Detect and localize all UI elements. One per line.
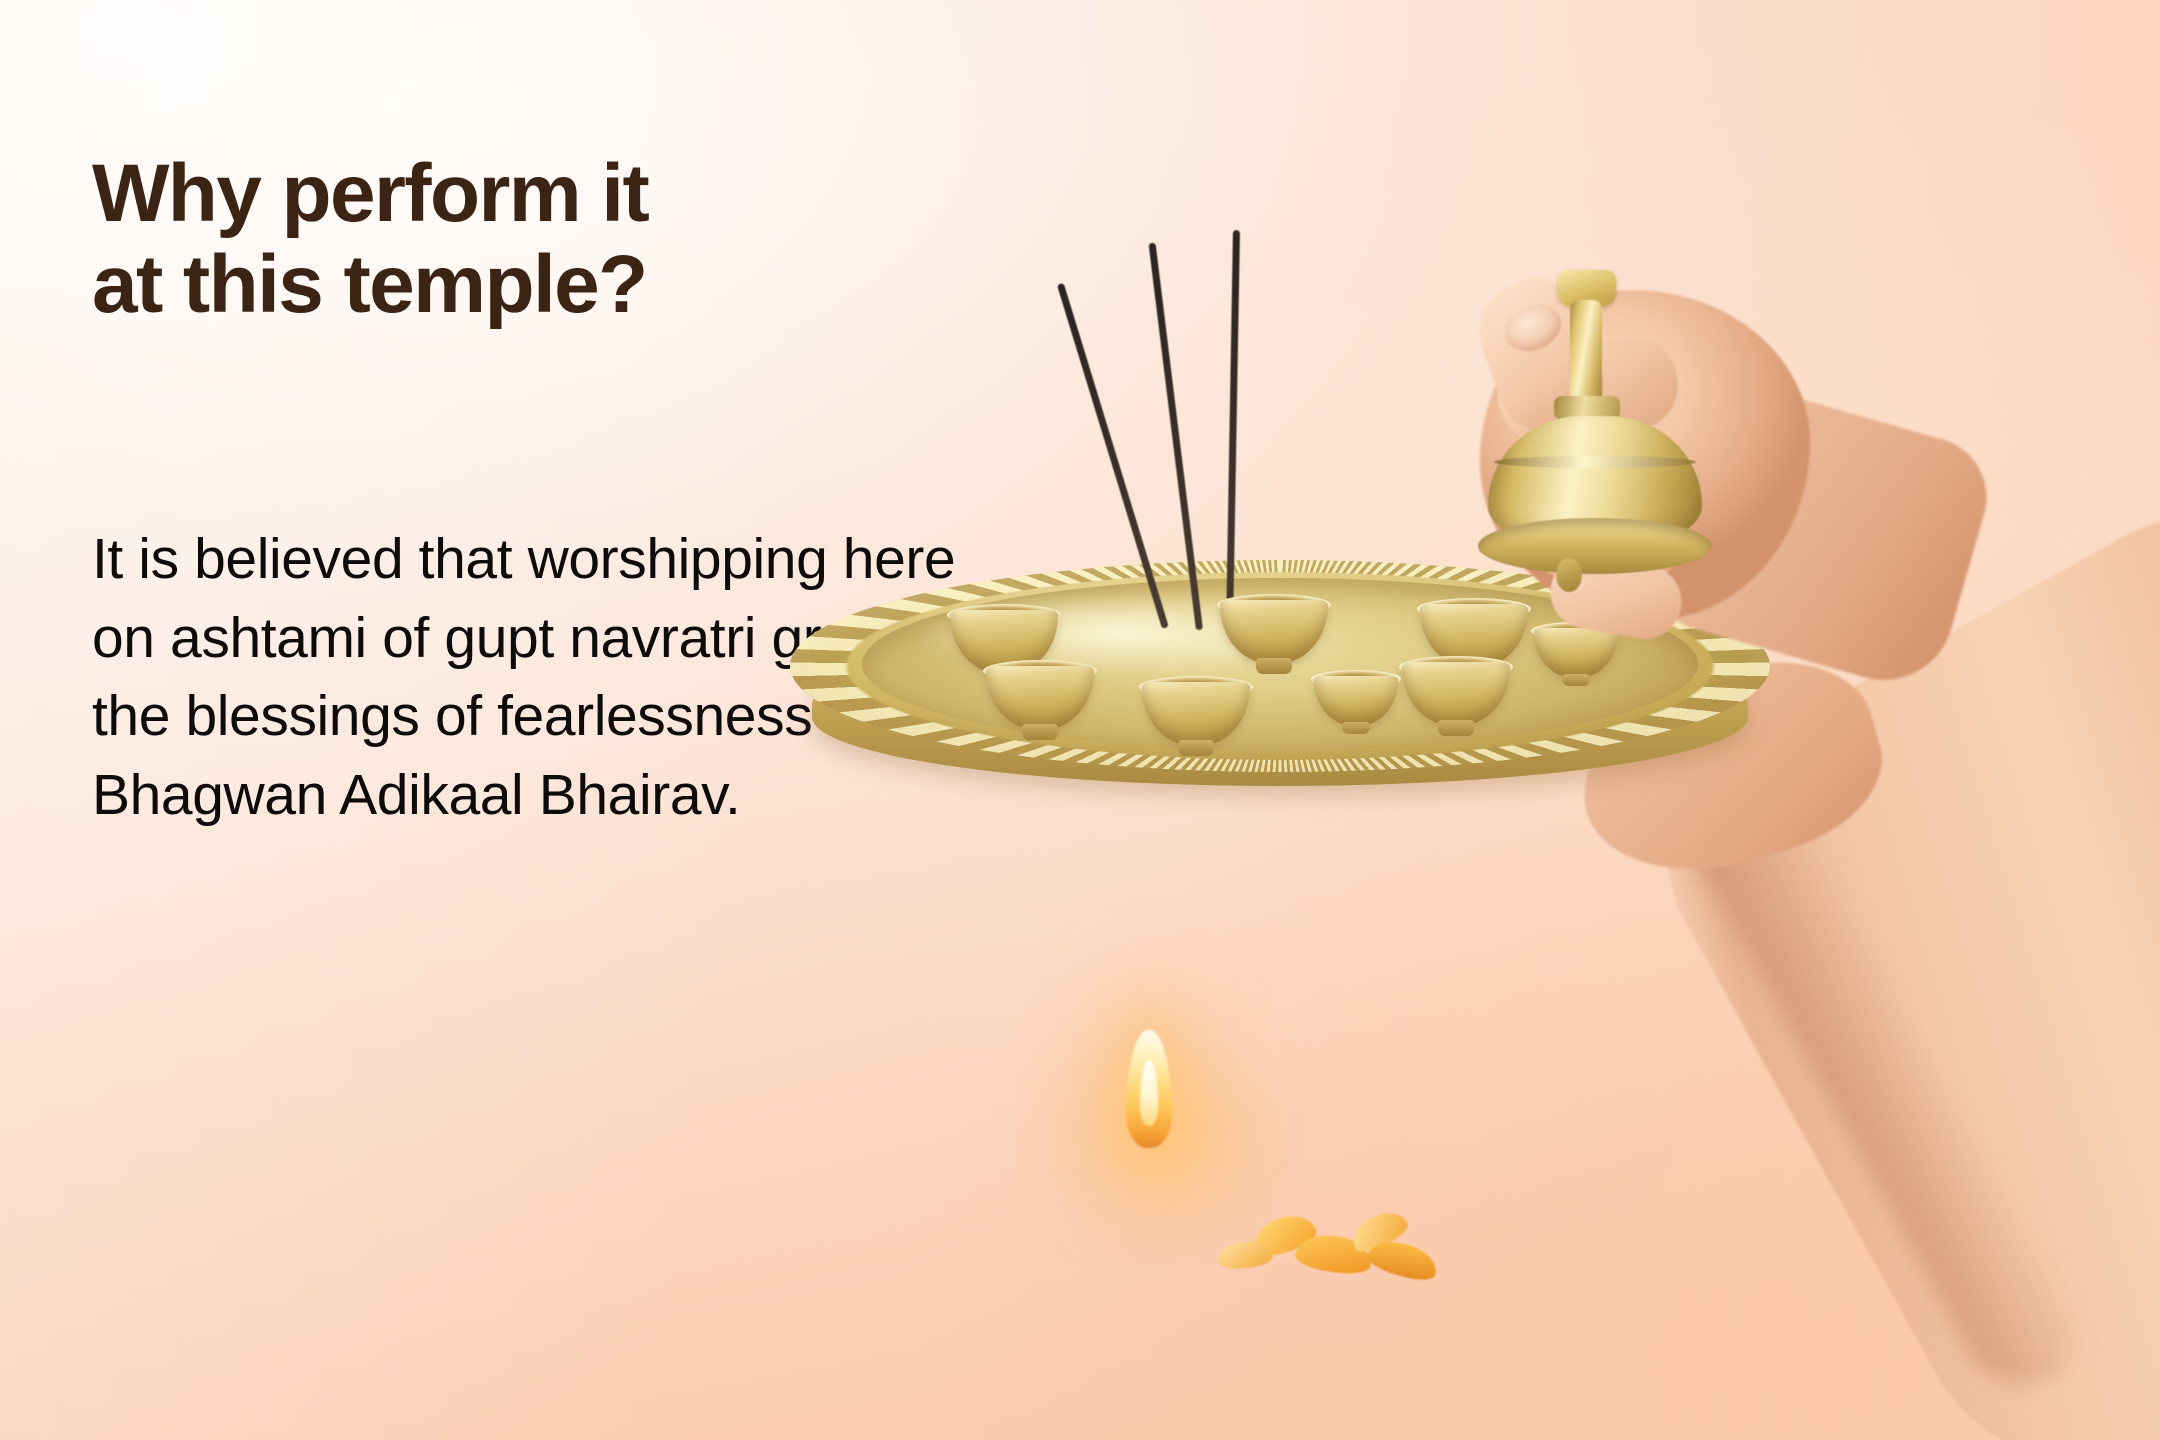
brass-diya bbox=[1142, 668, 1250, 754]
puja-photo bbox=[1020, 0, 2160, 1440]
page-title: Why perform it at this temple? bbox=[92, 148, 992, 330]
bell-clapper bbox=[1556, 558, 1582, 592]
hand-holding-bell bbox=[1320, 260, 1940, 820]
slide-canvas: Why perform it at this temple? It is bel… bbox=[0, 0, 2160, 1440]
marigold-petals bbox=[1242, 1196, 1492, 1306]
brass-diya bbox=[1220, 586, 1328, 672]
bell-handle bbox=[1570, 300, 1602, 404]
brass-diya bbox=[986, 652, 1094, 738]
brass-bell bbox=[1470, 270, 1720, 570]
bell-ring bbox=[1494, 456, 1696, 468]
bell-mouth bbox=[1478, 518, 1712, 574]
